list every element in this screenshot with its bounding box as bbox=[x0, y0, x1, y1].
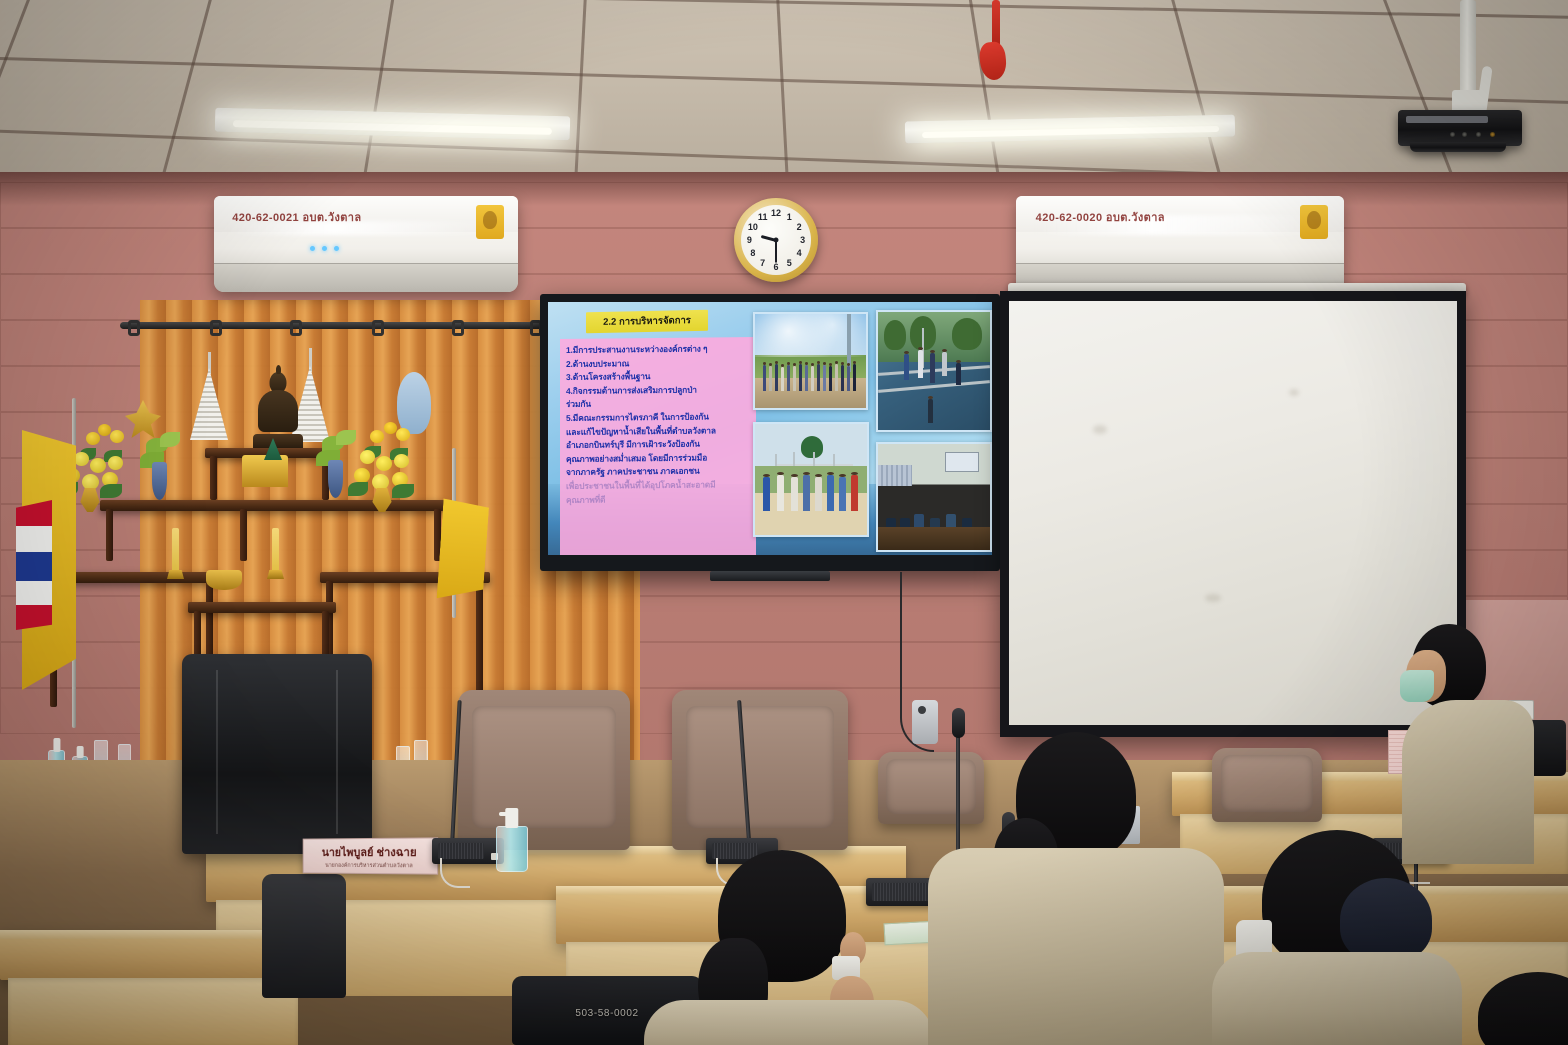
beige-conference-chair[interactable] bbox=[1212, 748, 1322, 822]
ac-asset-label: 420-62-0021 อบต.วังตาล bbox=[232, 208, 361, 226]
attendee-shoulders bbox=[644, 1000, 934, 1045]
buddha-statue bbox=[255, 372, 301, 450]
attendee-shoulders bbox=[928, 848, 1224, 1045]
curtain-ring bbox=[128, 320, 140, 336]
ceiling bbox=[0, 0, 1568, 178]
royal-yellow-flag-right bbox=[437, 499, 490, 602]
ac-sticker-right bbox=[1300, 205, 1328, 239]
slide-title: 2.2 การบริหารจัดการ bbox=[586, 310, 708, 334]
air-conditioner-left: 420-62-0021 อบต.วังตาล bbox=[214, 196, 518, 292]
photo-water-inspection bbox=[876, 310, 992, 432]
attendee-front-center bbox=[928, 732, 1228, 1045]
ac-sticker-left bbox=[476, 205, 504, 239]
candle-holder-left bbox=[167, 570, 184, 579]
attendee-far-right-partial bbox=[1478, 972, 1568, 1045]
clock-numeral: 4 bbox=[797, 248, 802, 258]
hand-sanitizer-bottle[interactable] bbox=[496, 808, 528, 872]
nameplate-title: นายกองค์การบริหารส่วนตำบลวังตาล bbox=[325, 861, 413, 869]
executive-chair[interactable] bbox=[182, 654, 372, 854]
clock-numeral: 10 bbox=[748, 222, 758, 232]
incense-bowl bbox=[206, 570, 242, 590]
clock-center-pin bbox=[774, 238, 779, 243]
attendee-shoulders bbox=[1212, 952, 1462, 1045]
ceiling-tile-grid bbox=[0, 0, 1568, 178]
air-conditioner-right: 420-62-0020 อบต.วังตาล bbox=[1016, 196, 1344, 292]
slide-bullet-faded: คุณภาพที่ดี bbox=[566, 492, 750, 508]
tv-stand bbox=[710, 571, 830, 581]
clock-numeral: 9 bbox=[747, 235, 752, 245]
nameplate: นายไพบูลย์ ช่างฉาย นายกองค์การบริหารส่วน… bbox=[303, 837, 438, 874]
clock-numeral: 6 bbox=[773, 262, 778, 272]
clock-numeral: 1 bbox=[787, 212, 792, 222]
green-surgical-mask bbox=[1400, 670, 1434, 702]
curtain-ring bbox=[210, 320, 222, 336]
clock-numeral: 5 bbox=[787, 258, 792, 268]
altar-leg bbox=[106, 509, 113, 561]
beige-conference-chair[interactable] bbox=[672, 690, 848, 850]
photo-group-hardhats bbox=[753, 422, 869, 537]
clock-numeral: 3 bbox=[800, 235, 805, 245]
altar-mid-tier bbox=[100, 500, 446, 511]
clock-numeral: 7 bbox=[760, 258, 765, 268]
projector-lens-housing bbox=[1410, 142, 1506, 152]
clock-minute-hand bbox=[775, 240, 777, 262]
blue-stupa-ornament bbox=[397, 372, 431, 434]
left-front-desk-skirt bbox=[8, 978, 298, 1045]
altar-candle-right bbox=[272, 528, 279, 572]
nameplate-name: นายไพบูลย์ ช่างฉาย bbox=[322, 842, 417, 860]
tv-screen: 2.2 การบริหารจัดการ 1.มีการประสานงานระหว… bbox=[548, 302, 992, 555]
left-front-desk bbox=[0, 930, 300, 980]
altar-leg bbox=[210, 456, 217, 500]
ceiling-projector bbox=[1398, 110, 1522, 146]
curtain-ring bbox=[290, 320, 302, 336]
clock-numeral: 12 bbox=[771, 208, 781, 218]
clock-face: 12 1 2 3 4 5 6 7 8 9 10 11 bbox=[741, 205, 811, 275]
thai-national-flag bbox=[16, 500, 52, 630]
photo-group-outdoor bbox=[753, 312, 868, 410]
altar-leg bbox=[476, 581, 483, 707]
curtain-ring bbox=[372, 320, 384, 336]
attendee-hair-bow bbox=[1340, 878, 1432, 962]
phone-camera-icon bbox=[918, 706, 926, 714]
altar-leg bbox=[240, 509, 247, 561]
projector-mount-pole bbox=[1460, 0, 1476, 96]
curtain-ring bbox=[452, 320, 464, 336]
meeting-room-scene: 420-62-0021 อบต.วังตาล 420-62-0020 อบต.ว… bbox=[0, 0, 1568, 1045]
beige-conference-chair[interactable] bbox=[458, 690, 630, 850]
clock-numeral: 8 bbox=[750, 248, 755, 258]
attendee-head bbox=[1478, 972, 1568, 1045]
photo-meeting-room bbox=[876, 442, 992, 552]
wall-mounted-tv[interactable]: 2.2 การบริหารจัดการ 1.มีการประสานงานระหว… bbox=[540, 294, 1000, 571]
attendee-seated-right bbox=[1388, 624, 1538, 864]
stacking-chair[interactable] bbox=[262, 874, 346, 998]
attendee-front-left bbox=[644, 850, 944, 1045]
clock-numeral: 11 bbox=[758, 212, 768, 222]
clock-numeral: 2 bbox=[797, 222, 802, 232]
wall-clock: 12 1 2 3 4 5 6 7 8 9 10 11 bbox=[734, 198, 818, 282]
ac-asset-label: 420-62-0020 อบต.วังตาล bbox=[1036, 208, 1165, 226]
altar-candle-left bbox=[172, 528, 179, 572]
slide-bullet-list: 1.มีการประสานงานระหว่างองค์กรต่าง ๆ 2.ด้… bbox=[560, 337, 756, 555]
candle-holder-right bbox=[267, 570, 284, 579]
altar-front-tier bbox=[188, 602, 336, 613]
